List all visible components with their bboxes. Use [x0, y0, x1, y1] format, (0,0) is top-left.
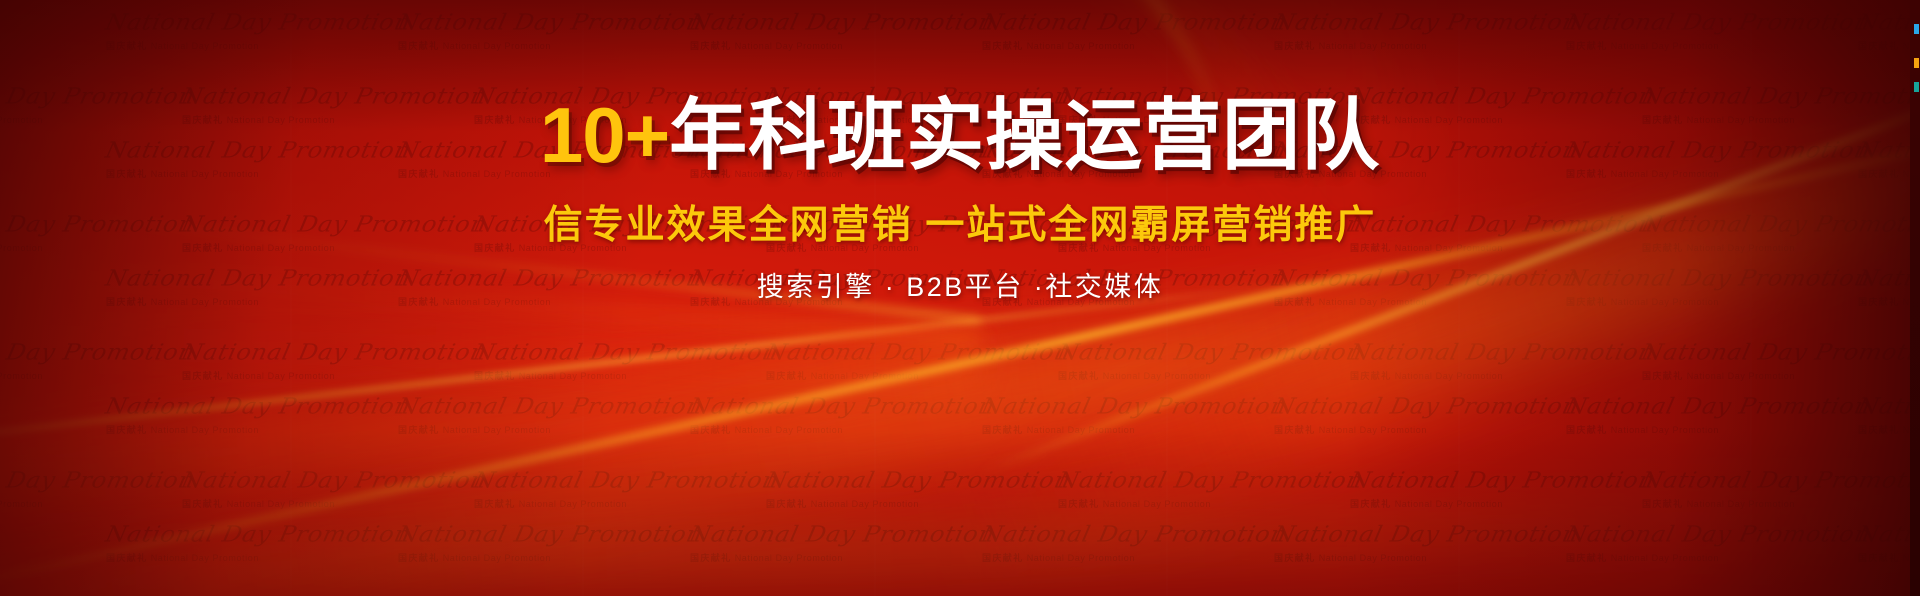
banner-headline: 10+年科班实操运营团队 [0, 96, 1920, 174]
promo-banner: National Day Promotion国庆献礼 National Day … [0, 0, 1920, 596]
banner-subline: 信专业效果全网营销 一站式全网霸屏营销推广 [0, 206, 1920, 245]
headline-highlight: 10+ [540, 91, 669, 179]
headline-rest: 年科班实操运营团队 [669, 91, 1380, 179]
edge-marker-orange [1914, 58, 1919, 68]
edge-marker-teal [1914, 82, 1919, 92]
banner-tagline: 搜索引擎 · B2B平台 ·社交媒体 [0, 274, 1920, 301]
banner-copy-block: 10+年科班实操运营团队 信专业效果全网营销 一站式全网霸屏营销推广 搜索引擎 … [0, 96, 1920, 301]
edge-marker-blue [1914, 24, 1919, 34]
